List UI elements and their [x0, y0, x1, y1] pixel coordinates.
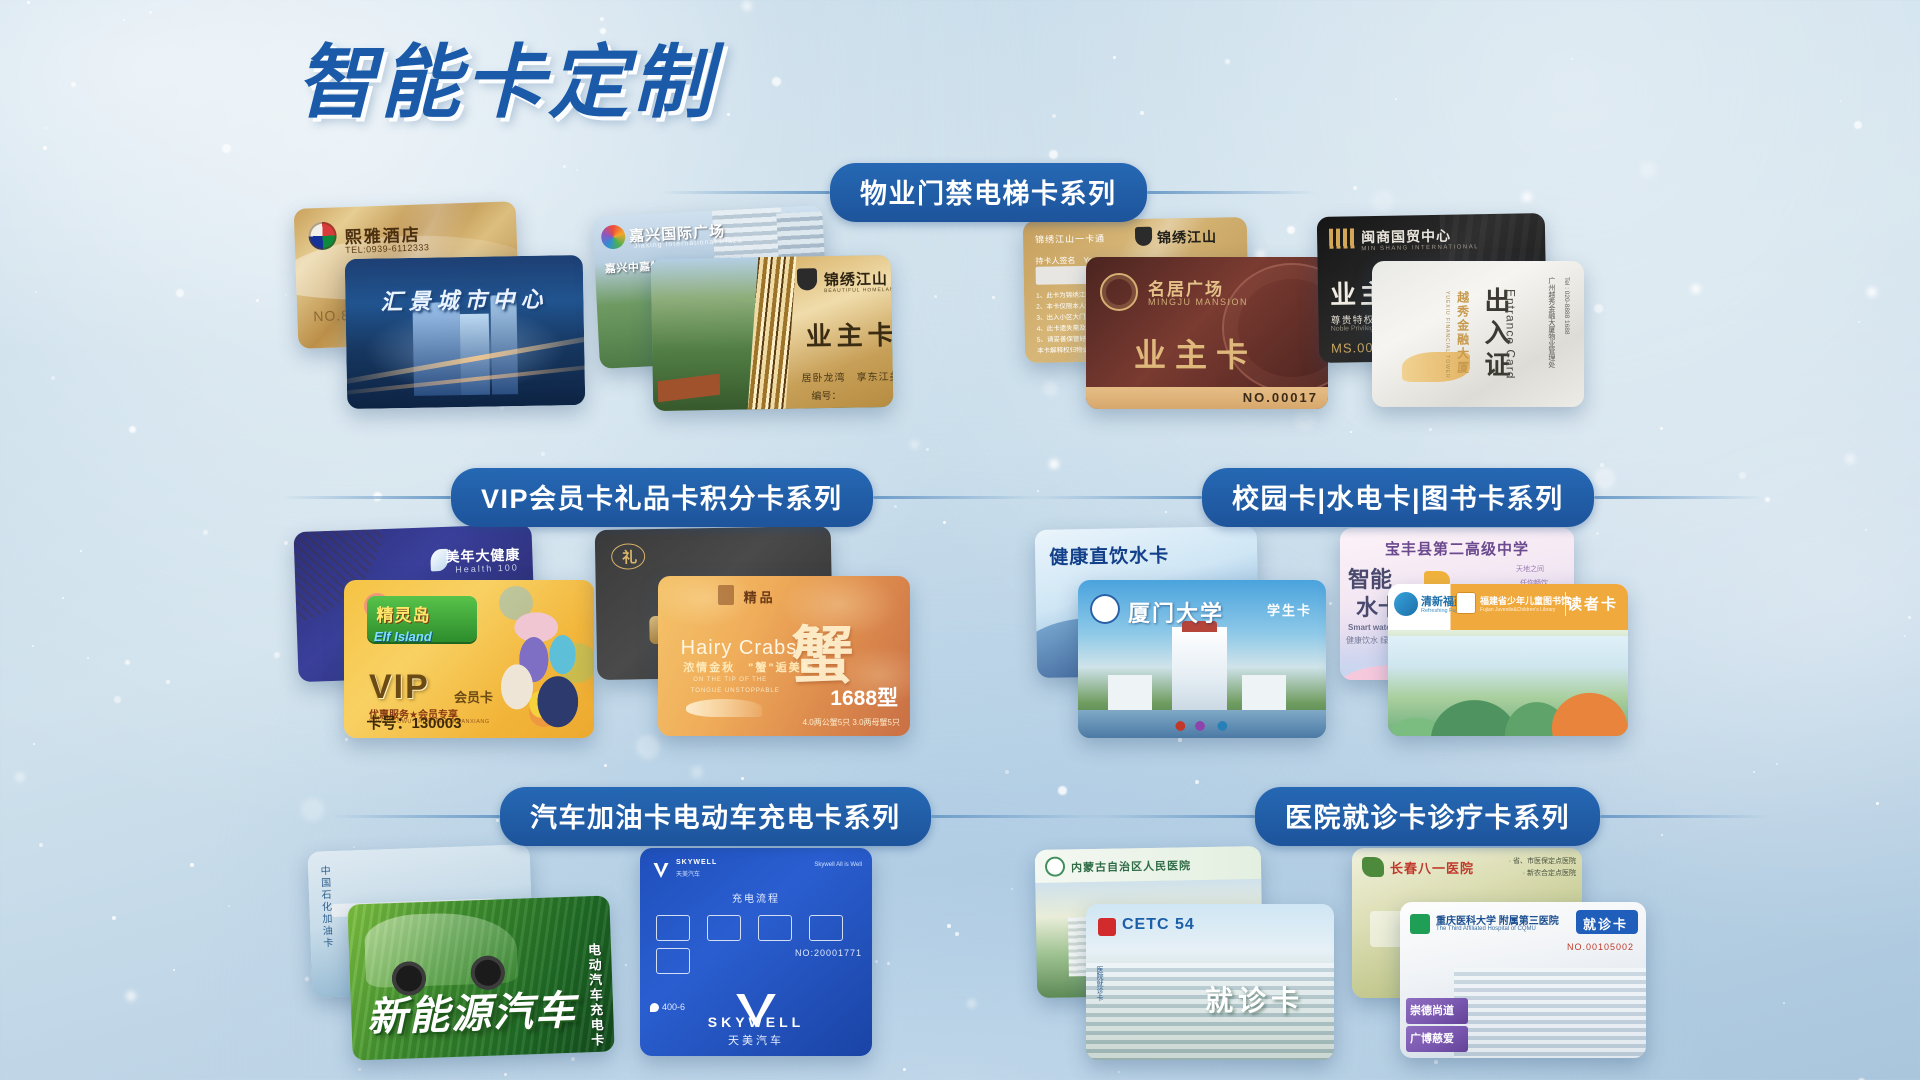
snow-flake — [576, 169, 578, 171]
card-elf-island-vip[interactable]: 精灵岛 Elf Island VIP 会员卡 优惠服务★会员专享 YOUHUIF… — [344, 580, 594, 738]
library-scenery-art — [1388, 636, 1628, 736]
card-cetc54-visit[interactable]: CETC 54 就诊卡 医院就诊卡 — [1086, 904, 1334, 1060]
header-rule-right — [1147, 191, 1317, 194]
ev-title: 新能源汽车 — [366, 978, 578, 1043]
yikatong-brand: 锦绣江山 — [1157, 227, 1217, 248]
snow-flake — [228, 905, 230, 907]
jinxiu-crest-icon — [1135, 227, 1152, 246]
header-rule-left — [1085, 815, 1255, 818]
entrance-title-en: Entrance Card — [1503, 289, 1517, 379]
snow-flake — [903, 1068, 906, 1071]
section-header-campus: 校园卡|水电卡|图书卡系列 — [1032, 468, 1764, 527]
snow-flake — [1691, 284, 1701, 294]
elf-title-en: Elf Island — [374, 629, 432, 644]
mingju-serial: NO.00017 — [1243, 390, 1318, 405]
snow-flake — [1908, 616, 1911, 619]
crab-premium-label: 精品 — [744, 587, 776, 606]
li-character: 礼 — [622, 546, 637, 567]
library-badge-icon — [1456, 592, 1476, 614]
xmu-side-building-right — [1242, 675, 1287, 710]
section-badge-vip[interactable]: VIP会员卡礼品卡积分卡系列 — [451, 468, 873, 527]
card-group-minshang: 闽商国贸中心 MIN SHANG INTERNATIONAL 业主卡 尊贵特权 … — [1318, 205, 1608, 410]
snow-flake — [1845, 454, 1855, 464]
card-hairy-crabs[interactable]: 精品 Hairy Crabs 浓情金秋 "蟹"逅美味 ON THE TIP OF… — [658, 576, 910, 736]
xmu-building-illustration — [1172, 627, 1227, 709]
reader-card-label: 读者卡 — [1567, 593, 1618, 614]
xmu-card-type: 学生卡 — [1267, 600, 1312, 619]
snow-flake — [222, 144, 231, 153]
cqmu-logo-icon — [1410, 914, 1430, 934]
elf-title-cn: 精灵岛 — [377, 601, 431, 626]
snow-flake — [1005, 770, 1009, 774]
snow-flake — [1865, 529, 1867, 531]
card-jinxiu-owner[interactable]: 锦绣江山 BEAUTIFUL HOMELAND 业主卡 居卧龙湾 享东江美 编号… — [651, 255, 894, 411]
snow-flake — [691, 766, 703, 778]
snow-flake — [947, 924, 951, 928]
cqmu-motto-2: 广博慈爱 — [1410, 1030, 1454, 1046]
bayi-note-2: · 新农合定点医院 — [1523, 868, 1576, 878]
snow-flake — [727, 113, 730, 116]
neimenggu-name: 内蒙古自治区人民医院 — [1071, 857, 1191, 875]
cqmu-name-en: The Third Affiliated Hospital of CQMU — [1436, 926, 1536, 932]
header-rule-right — [1594, 496, 1764, 499]
snow-flake — [1753, 771, 1755, 773]
snow-flake — [33, 743, 35, 745]
snow-flake — [129, 426, 136, 433]
snow-flake — [1113, 56, 1116, 59]
entrance-building-cn: 越秀金融大厦 — [1455, 291, 1472, 375]
snow-flake — [176, 289, 184, 297]
snow-flake — [274, 652, 280, 658]
snow-flake — [1350, 431, 1352, 433]
card-group-hairy-crabs: 礼 精品 Hairy Crabs 浓情金秋 "蟹"逅美味 ON THE TIP … — [596, 528, 916, 743]
card-huijing-center[interactable]: 汇景城市中心 — [345, 255, 586, 409]
library-name-cn: 福建省少年儿童图书馆 — [1480, 594, 1570, 607]
snow-flake — [1011, 888, 1013, 890]
entrance-manager: 广州越秀金融大厦物业管理处 — [1546, 277, 1556, 368]
snow-flake — [1765, 497, 1770, 502]
entrance-tel: Tel : 020-8888 1688 — [1563, 277, 1570, 334]
snow-flake — [934, 295, 937, 298]
cqmu-motto-1: 崇德尚道 — [1410, 1002, 1454, 1018]
snow-flake — [39, 843, 43, 847]
snow-flake — [123, 19, 125, 21]
snow-flake — [190, 863, 194, 867]
snow-flake — [1225, 59, 1230, 64]
library-divider — [1565, 592, 1566, 616]
crab-slogan-en-2: TONGUE UNSTOPPABLE — [691, 688, 780, 694]
mingju-seal-icon — [1100, 273, 1138, 311]
section-badge-property[interactable]: 物业门禁电梯卡系列 — [830, 163, 1147, 222]
snow-flake — [256, 299, 259, 302]
card-fujian-library-reader[interactable]: 清新福建 Refreshing Fujian 福建省少年儿童图书馆 Fujian… — [1388, 584, 1628, 736]
snow-flake — [1118, 1071, 1120, 1073]
snow-flake — [51, 376, 55, 380]
cetc-logo-icon — [1098, 918, 1116, 936]
snow-flake — [1858, 321, 1860, 323]
charge-flow-label: 充电流程 — [732, 890, 780, 905]
snow-flake — [125, 660, 130, 665]
snow-flake — [1867, 287, 1877, 297]
card-mingju-owner[interactable]: 名居广场 MINGJU MANSION 业主卡 NO.00017 — [1086, 257, 1328, 409]
flow-step-2-icon — [707, 915, 741, 941]
minshang-privilege-en: Noble Privilege — [1331, 325, 1378, 333]
fujian-logo-icon — [1394, 592, 1418, 616]
snow-flake — [1052, 114, 1056, 118]
header-rule-right — [873, 496, 1043, 499]
plaza-logo-icon — [601, 224, 626, 249]
section-header-vip: VIP会员卡礼品卡积分卡系列 — [281, 468, 1043, 527]
card-group-health-elf: 美年大健康 Health 100 精灵岛 Elf Island VIP 会员卡 … — [296, 528, 596, 743]
vip-card-number: 卡号：130003 — [367, 712, 462, 733]
bayi-note-1: · 省、市医保定点医院 — [1509, 856, 1576, 866]
jinxiu-serial-label: 编号： — [811, 387, 841, 403]
header-rule-left — [660, 191, 830, 194]
snow-flake — [358, 1068, 361, 1071]
snow-flake — [284, 541, 288, 545]
snow-flake — [285, 294, 287, 296]
library-name-en: Fujian Juvenile&Children's Library — [1480, 607, 1555, 613]
jinxiu-owner-title: 业主卡 — [805, 315, 893, 354]
snow-flake — [1195, 780, 1199, 784]
card-group-hotel-huijing: 熙雅酒店 TEL:0939-6112333 NO.80 汇景城市中心 — [296, 205, 586, 415]
snow-flake — [992, 296, 995, 299]
health100-name-en: Health 100 — [455, 562, 519, 574]
snow-flake — [1904, 635, 1906, 637]
card-group-baofeng-library: 宝丰县第二高级中学 智能 水卡 Smart water card 健康饮水 绿色… — [1340, 528, 1630, 743]
snow-flake — [955, 932, 959, 936]
flow-step-3-icon — [758, 915, 792, 941]
section-badge-campus[interactable]: 校园卡|水电卡|图书卡系列 — [1202, 468, 1594, 527]
snow-flake — [1429, 428, 1432, 431]
snow-flake — [71, 82, 76, 87]
huijing-title: 汇景城市中心 — [380, 282, 549, 317]
card-entrance[interactable]: 出入证 Entrance Card 越秀金融大厦 YUEXIU FINANCIA… — [1372, 261, 1584, 407]
phone-icon — [650, 1003, 659, 1012]
bayi-name: 长春八一医院 — [1390, 858, 1474, 877]
header-rule-left — [330, 815, 500, 818]
card-skywell-charging[interactable]: SKYWELL 天美汽车 Skywell All is Well 充电流程 NO… — [640, 848, 872, 1056]
snow-flake — [563, 165, 566, 168]
snow-flake — [1571, 58, 1573, 60]
cetc-sidenote: 医院就诊卡 — [1094, 966, 1104, 1001]
yikatong-label: 锦绣江山一卡通 — [1035, 232, 1105, 246]
snow-flake — [305, 977, 309, 981]
section-header-property: 物业门禁电梯卡系列 — [660, 163, 1317, 222]
snow-flake — [1776, 763, 1778, 765]
crab-spec: 4.0两公蟹5只 3.0两母蟹5只 — [803, 717, 900, 728]
snow-flake — [604, 764, 607, 767]
cqmu-hospital-photo — [1454, 968, 1646, 1058]
snow-flake — [741, 777, 744, 780]
card-group-newenergy: 中国石化加油卡 新能源汽车 电动汽车充电卡 — [310, 848, 610, 1063]
card-group-neimenggu: 内蒙古自治区人民医院 CETC 54 就诊卡 医院就诊卡 — [1036, 848, 1336, 1063]
crab-model: 1688型 — [830, 682, 898, 712]
skywell-brand-top: SKYWELL — [676, 859, 717, 866]
crab-seal-icon — [718, 585, 734, 605]
snow-flake — [80, 550, 82, 552]
snow-flake — [1329, 602, 1332, 605]
card-group-water-xmu: 健康直饮水卡 厦门大学 学生卡 — [1036, 528, 1326, 743]
jinxiu-brand-en: BEAUTIFUL HOMELAND — [824, 287, 893, 294]
snow-flake — [1640, 162, 1656, 178]
skywell-tagline: Skywell All is Well — [814, 862, 862, 868]
header-rule-left — [1032, 496, 1202, 499]
snow-flake — [1854, 121, 1862, 129]
crab-title-en: Hairy Crabs — [681, 637, 798, 660]
card-group-jinxiu: 嘉兴国际广场 Jiaxing International Plaza 嘉兴中嘉物… — [596, 205, 896, 420]
flow-step-4-icon — [809, 915, 843, 941]
snow-flake — [1049, 150, 1058, 159]
minshang-logo-icon — [1329, 228, 1355, 248]
mingju-name-en: MINGJU MANSION — [1148, 297, 1248, 307]
snow-flake — [1783, 1002, 1785, 1004]
card-cqmu-third-hospital[interactable]: 重庆医科大学 附属第三医院 The Third Affiliated Hospi… — [1400, 902, 1646, 1058]
crab-boat-illustration — [686, 699, 762, 717]
snow-flake — [166, 680, 170, 684]
snow-flake — [1660, 427, 1663, 430]
baofeng-school-name: 宝丰县第二高级中学 — [1385, 538, 1529, 559]
card-xmu-student[interactable]: 厦门大学 学生卡 — [1078, 580, 1326, 738]
gas-brand-vertical: 中国石化加油卡 — [316, 865, 334, 949]
snow-flake — [541, 452, 545, 456]
skywell-serial: NO:20001771 — [795, 948, 862, 958]
snow-flake — [967, 999, 976, 1008]
snow-flake — [1295, 410, 1315, 430]
xmu-icon-row — [1172, 718, 1242, 734]
minshang-serial: MS.00 — [1331, 340, 1374, 356]
header-rule-right — [931, 815, 1101, 818]
card-ev-charging[interactable]: 新能源汽车 电动汽车充电卡 — [347, 895, 614, 1060]
snow-flake — [87, 657, 89, 659]
snow-flake — [126, 991, 136, 1001]
section-badge-fuel[interactable]: 汽车加油卡电动车充电卡系列 — [500, 787, 931, 846]
snow-flake — [504, 1073, 507, 1076]
snow-flake — [1600, 463, 1604, 467]
snow-flake — [15, 772, 25, 782]
snow-flake — [301, 798, 324, 821]
snow-flake — [926, 448, 929, 451]
snow-flake — [62, 597, 64, 599]
ev-subtitle: 电动汽车充电卡 — [584, 943, 607, 1049]
snow-flake — [1395, 98, 1397, 100]
elf-characters-art — [469, 605, 589, 728]
section-header-fuel: 汽车加油卡电动车充电卡系列 — [330, 787, 1101, 846]
snow-flake — [43, 146, 47, 150]
entrance-building-en: YUEXIU FINANCIAL TOWER — [1444, 291, 1450, 379]
bayi-logo-icon — [1362, 857, 1384, 877]
xmu-emblem-icon — [1090, 594, 1120, 624]
header-rule-left — [281, 496, 451, 499]
header-rule-right — [1600, 815, 1770, 818]
snow-flake — [35, 291, 37, 293]
snow-flake — [203, 530, 208, 535]
snow-flake — [1840, 100, 1842, 102]
page-title: 智能卡定制 — [296, 18, 716, 134]
baofeng-tag-1: 天地之间 — [1516, 564, 1544, 574]
snow-flake — [32, 645, 34, 647]
vip-word: VIP — [369, 668, 430, 707]
flow-step-1-icon — [656, 915, 690, 941]
snow-flake — [173, 969, 175, 971]
mingju-owner-title: 业主卡 — [1134, 330, 1257, 376]
skywell-brand-big-cn: 天美汽车 — [728, 1032, 784, 1048]
crab-slogan-en-1: ON THE TIP OF THE — [693, 677, 767, 683]
skywell-brand-big: SKYWELL — [708, 1014, 804, 1030]
snow-flake — [625, 964, 627, 966]
skywell-brand-top-cn: 天美汽车 — [676, 869, 700, 878]
xmu-name: 厦门大学 — [1128, 596, 1224, 628]
snow-flake — [742, 1, 752, 11]
snow-flake — [27, 1, 30, 4]
card-group-mingju: 锦绣江山一卡通 锦绣江山 持卡人签名 Your Name 1、此卡为锦绣江山业主… — [1024, 205, 1324, 410]
xmu-side-building-left — [1108, 675, 1153, 710]
section-badge-hospital[interactable]: 医院就诊卡诊疗卡系列 — [1255, 787, 1600, 846]
snow-flake — [1522, 192, 1532, 202]
flow-step-5-icon — [656, 948, 690, 974]
card-group-skywell: SKYWELL 天美汽车 Skywell All is Well 充电流程 NO… — [640, 848, 890, 1063]
cqmu-name-cn: 重庆医科大学 附属第三医院 — [1436, 912, 1559, 927]
cqmu-card-label: 就诊卡 — [1583, 914, 1628, 933]
snow-flake — [112, 916, 116, 920]
cqmu-serial: NO.00105002 — [1567, 942, 1634, 952]
water-card-title: 健康直饮水卡 — [1049, 541, 1169, 570]
card-group-changchun: 长春八一医院 · 省、市医保定点医院 · 新农合定点医院 重庆医科大学 附属第三… — [1352, 848, 1642, 1063]
section-header-hospital: 医院就诊卡诊疗卡系列 — [1085, 787, 1770, 846]
jinxiu-slogan: 居卧龙湾 享东江美 — [801, 368, 893, 385]
snow-flake — [1140, 111, 1144, 115]
snow-flake — [114, 696, 121, 703]
snow-flake — [45, 127, 47, 129]
skywell-logo-top-icon — [652, 860, 670, 878]
cetc-name: CETC 54 — [1122, 916, 1195, 934]
snow-flake — [772, 77, 781, 86]
snow-flake — [149, 11, 152, 14]
cetc-card-title: 就诊卡 — [1205, 979, 1304, 1019]
snow-flake — [910, 440, 919, 449]
skywell-hotline: 400-6 — [662, 1002, 685, 1012]
snow-flake — [1353, 186, 1357, 190]
snow-flake — [1876, 802, 1879, 805]
